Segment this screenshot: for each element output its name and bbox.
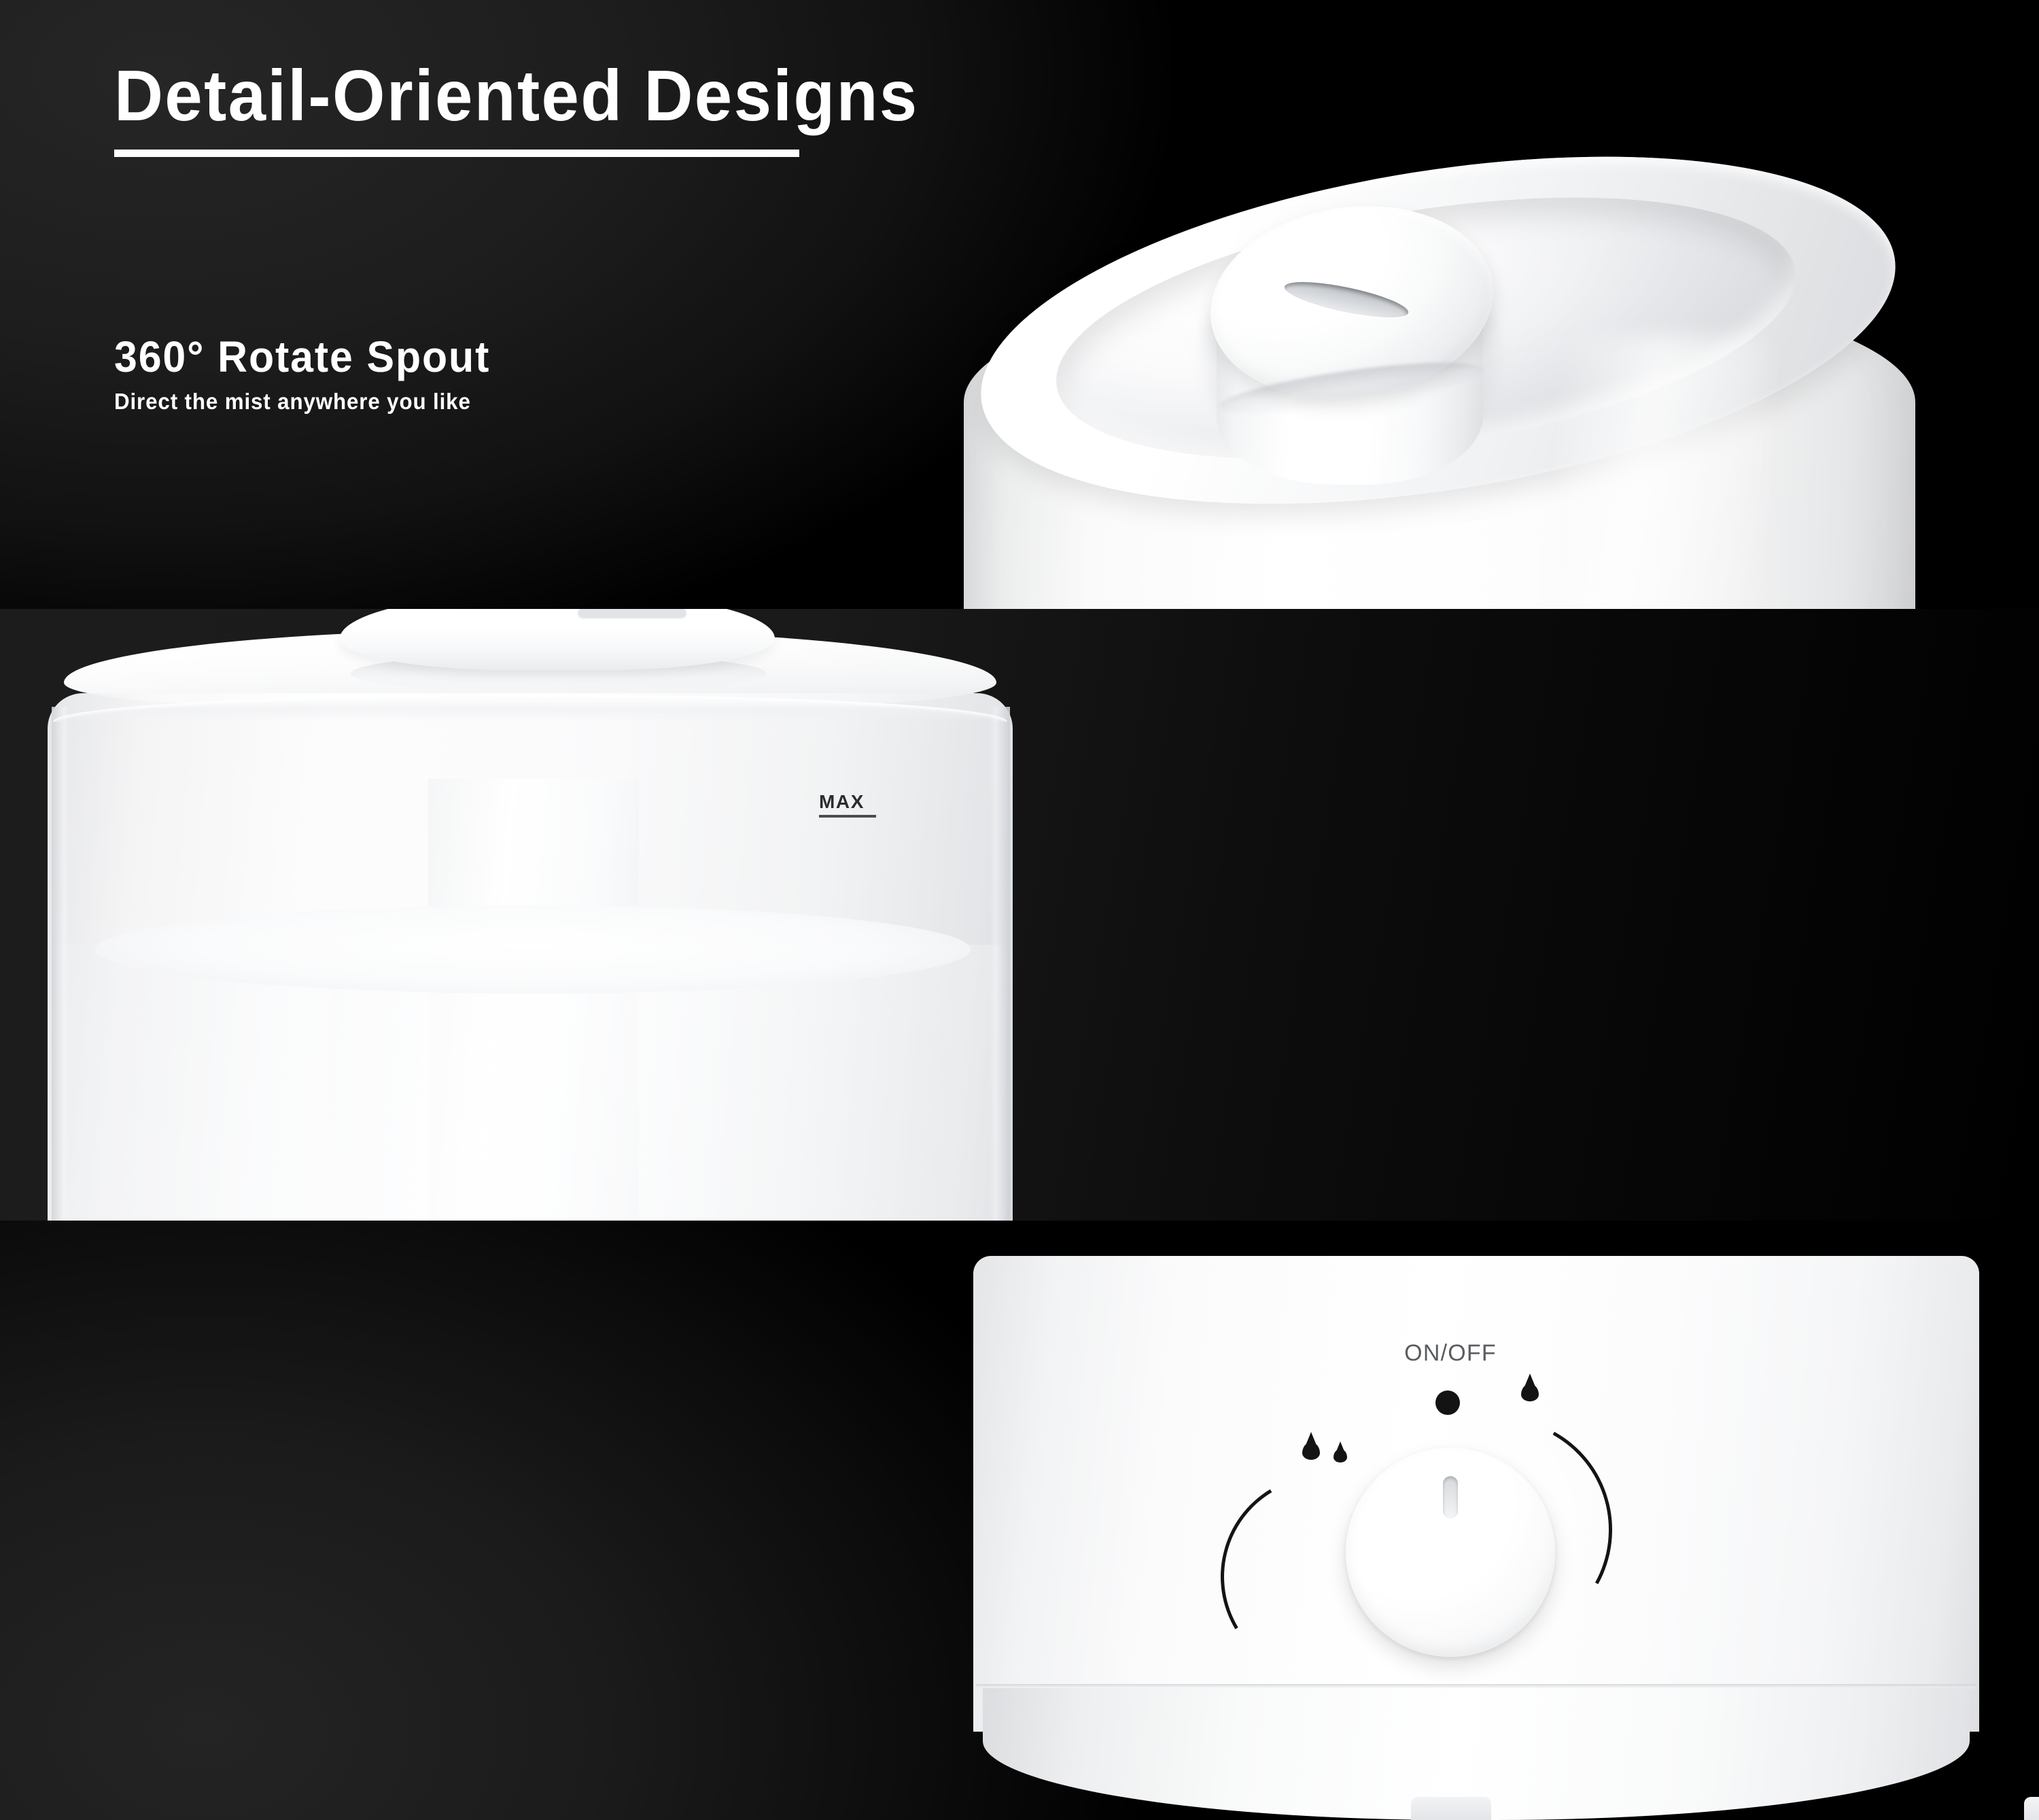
max-water-level-marking: MAX — [819, 792, 876, 818]
page-title: Detail-Oriented Designs — [114, 60, 970, 157]
dial-knob-pointer — [1443, 1476, 1458, 1518]
caption-rotate-spout: 360° Rotate Spout Direct the mist anywhe… — [114, 334, 510, 414]
product-image-water-tank — [48, 609, 1026, 1221]
caption-subtitle: Direct the mist anywhere you like — [114, 389, 490, 414]
water-droplet-double-icon-secondary — [1334, 1449, 1347, 1463]
product-image-dial-knob: ON/OFF — [973, 1256, 2039, 1820]
base-foot-right — [2024, 1797, 2039, 1820]
onoff-label: ON/OFF — [1274, 1342, 1627, 1365]
tank-cap-slot — [578, 609, 686, 618]
water-level-surface — [95, 905, 971, 994]
panel-rotate-spout: Detail-Oriented Designs 360° Rotate Spou… — [0, 0, 2039, 609]
dial-control-cluster[interactable]: ON/OFF — [1274, 1342, 1627, 1681]
panel-water-tank: Translucent water tank Easily see the wa… — [0, 609, 2039, 1221]
page-title-text: Detail-Oriented Designs — [114, 60, 919, 132]
base-foot-left — [1411, 1797, 1491, 1820]
max-level-line — [819, 815, 876, 818]
onoff-position-dot — [1435, 1390, 1460, 1415]
infographic-page: Detail-Oriented Designs 360° Rotate Spou… — [0, 0, 2039, 1820]
tank-cap[interactable] — [340, 609, 775, 670]
body-highlight — [1562, 336, 1766, 609]
water-droplet-double-icon — [1302, 1442, 1320, 1460]
title-underline — [114, 150, 799, 157]
water-droplet-single-icon — [1521, 1384, 1539, 1401]
max-label: MAX — [819, 792, 876, 811]
caption-title: 360° Rotate Spout — [114, 334, 490, 380]
tank-wall-right — [990, 707, 1010, 1221]
tank-wall-left — [52, 707, 69, 1221]
product-image-rotate-spout — [964, 167, 1983, 609]
